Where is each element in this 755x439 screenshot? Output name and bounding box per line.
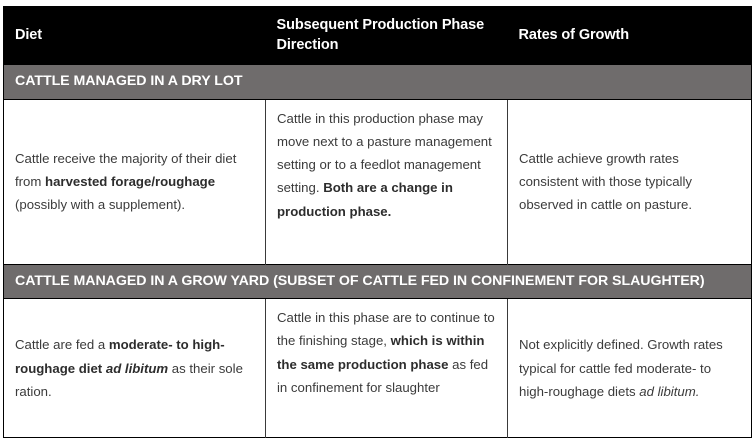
table-row-dry-lot: Cattle receive the majority of their die…: [4, 99, 752, 264]
column-header-diet: Diet: [4, 7, 266, 65]
section-title-grow-yard: CATTLE MANAGED IN A GROW YARD (SUBSET OF…: [4, 264, 752, 299]
cattle-production-phase-table: Diet Subsequent Production Phase Directi…: [3, 6, 752, 438]
comparison-table-container: Diet Subsequent Production Phase Directi…: [3, 6, 751, 438]
text-fragment: (possibly with a supplement).: [15, 197, 185, 212]
column-header-growth: Rates of Growth: [508, 7, 752, 65]
text-fragment: Cattle achieve growth rates consistent w…: [519, 151, 692, 212]
table-header-row: Diet Subsequent Production Phase Directi…: [4, 7, 752, 65]
cell-grow-yard-diet: Cattle are fed a moderate- to high-rough…: [4, 299, 266, 438]
table-row-grow-yard: Cattle are fed a moderate- to high-rough…: [4, 299, 752, 438]
cell-dry-lot-diet: Cattle receive the majority of their die…: [4, 99, 266, 264]
section-header-row-dry-lot: CATTLE MANAGED IN A DRY LOT: [4, 65, 752, 100]
column-header-direction: Subsequent Production Phase Direction: [266, 7, 508, 65]
text-fragment-bold: harvested forage/roughage: [45, 174, 215, 189]
text-fragment-bold-italic: ad libitum: [106, 361, 168, 376]
section-title-dry-lot: CATTLE MANAGED IN A DRY LOT: [4, 65, 752, 100]
text-fragment: Cattle are fed a: [15, 337, 109, 352]
section-header-row-grow-yard: CATTLE MANAGED IN A GROW YARD (SUBSET OF…: [4, 264, 752, 299]
cell-grow-yard-growth: Not explicitly defined. Growth rates typ…: [508, 299, 752, 438]
cell-grow-yard-direction: Cattle in this phase are to continue to …: [266, 299, 508, 438]
table-body: CATTLE MANAGED IN A DRY LOT Cattle recei…: [4, 65, 752, 438]
table-header: Diet Subsequent Production Phase Directi…: [4, 7, 752, 65]
cell-dry-lot-direction: Cattle in this production phase may move…: [266, 99, 508, 264]
text-fragment-italic: ad libitum.: [639, 384, 699, 399]
cell-dry-lot-growth: Cattle achieve growth rates consistent w…: [508, 99, 752, 264]
